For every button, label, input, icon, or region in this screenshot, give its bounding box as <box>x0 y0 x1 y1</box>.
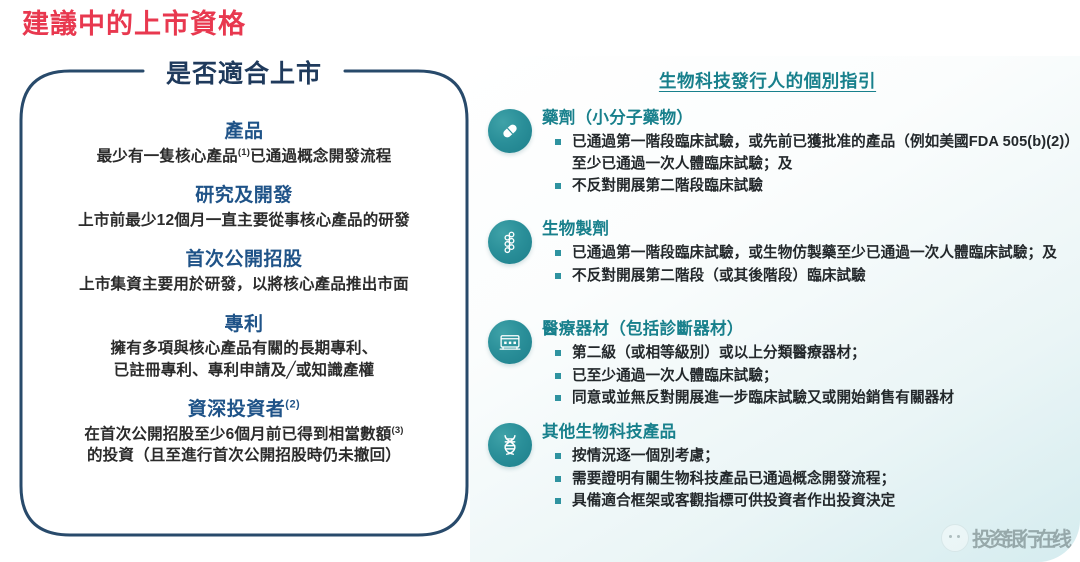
criteria-block-patent: 專利 擁有多項與核心產品有關的長期專利、 已註冊專利、專利申請及╱或知識產權 <box>28 313 460 382</box>
guidance-content: 其他生物科技產品 按情況逐一個別考慮； 需要證明有關生物科技產品已通過概念開發流… <box>542 422 1073 513</box>
pill-icon <box>488 109 532 153</box>
footnote-marker: (3) <box>391 425 403 436</box>
footnote-marker: (1) <box>238 147 250 158</box>
list-item: 不反對開展第二階段臨床試驗 <box>542 176 1073 197</box>
guidance-heading: 藥劑（小分子藥物） <box>542 108 1073 129</box>
list-item: 需要證明有關生物科技產品已通過概念開發流程； <box>542 469 1073 490</box>
biotech-guidance-panel: 生物科技發行人的個別指引 藥劑（小分子藥物） 已通過第一階段臨床試驗，或先前已獲… <box>470 56 1080 562</box>
criteria-text-line-1: 擁有多項與核心產品有關的長期專利、 <box>28 338 460 359</box>
criteria-block-rnd: 研究及開發 上市前最少12個月一直主要從事核心產品的研發 <box>28 184 460 231</box>
list-item: 已通過第一階段臨床試驗，或生物仿製藥至少已通過一次人體臨床試驗；及 <box>542 243 1073 264</box>
criteria-heading: 首次公開招股 <box>28 248 460 272</box>
guidance-group-other-biotech: 其他生物科技產品 按情況逐一個別考慮； 需要證明有關生物科技產品已通過概念開發流… <box>488 422 1073 513</box>
guidance-group-medical-device: 醫療器材（包括診斷器材） 第二級（或相等級別）或以上分類醫療器材； 已至少通過一… <box>488 319 1073 410</box>
guidance-content: 醫療器材（包括診斷器材） 第二級（或相等級別）或以上分類醫療器材； 已至少通過一… <box>542 319 1073 410</box>
list-item: 已通過第一階段臨床試驗，或先前已獲批准的產品（例如美國FDA 505(b)(2)… <box>542 132 1073 175</box>
criteria-block-ipo: 首次公開招股 上市集資主要用於研發，以將核心產品推出市面 <box>28 248 460 295</box>
criteria-heading: 資深投資者(2) <box>28 398 460 422</box>
criteria-block-investor: 資深投資者(2) 在首次公開招股至少6個月前已得到相當數額(3) 的投資（且至進… <box>28 398 460 467</box>
list-item: 按情況逐一個別考慮； <box>542 446 1073 467</box>
guidance-bullet-list: 按情況逐一個別考慮； 需要證明有關生物科技產品已通過概念開發流程； 具備適合框架… <box>542 446 1073 512</box>
dna-icon <box>488 423 532 467</box>
criteria-text-line-1: 在首次公開招股至少6個月前已得到相當數額(3) <box>28 424 460 446</box>
panel-title: 生物科技發行人的個別指引 <box>470 68 1065 93</box>
guidance-content: 生物製劑 已通過第一階段臨床試驗，或生物仿製藥至少已通過一次人體臨床試驗；及 不… <box>542 219 1073 288</box>
guidance-heading: 生物製劑 <box>542 219 1073 240</box>
criteria-text: 上市前最少12個月一直主要從事核心產品的研發 <box>28 210 460 231</box>
guidance-bullet-list: 已通過第一階段臨床試驗，或先前已獲批准的產品（例如美國FDA 505(b)(2)… <box>542 132 1073 197</box>
watermark-text: 投资银行在线 <box>972 523 1068 552</box>
footnote-marker: (2) <box>285 399 300 411</box>
criteria-heading: 專利 <box>28 313 460 337</box>
watermark: 投资银行在线 <box>941 523 1068 552</box>
wechat-logo-icon <box>941 524 969 552</box>
criteria-text: 上市集資主要用於研發，以將核心產品推出市面 <box>28 274 460 295</box>
molecule-chain-icon <box>488 220 532 264</box>
list-item: 已至少通過一次人體臨床試驗； <box>542 366 1073 387</box>
list-item: 不反對開展第二階段（或其後階段）臨床試驗 <box>542 266 1073 287</box>
guidance-bullet-list: 已通過第一階段臨床試驗，或生物仿製藥至少已通過一次人體臨床試驗；及 不反對開展第… <box>542 243 1073 287</box>
criteria-heading: 研究及開發 <box>28 184 460 208</box>
guidance-heading: 醫療器材（包括診斷器材） <box>542 319 1073 340</box>
listing-eligibility-card: 是否適合上市 產品 最少有一隻核心產品(1)已通過概念開發流程 研究及開發 上市… <box>18 68 470 538</box>
criteria-text-line-2: 的投資（且至進行首次公開招股時仍未撤回） <box>28 445 460 466</box>
guidance-content: 藥劑（小分子藥物） 已通過第一階段臨床試驗，或先前已獲批准的產品（例如美國FDA… <box>542 108 1073 198</box>
criteria-block-product: 產品 最少有一隻核心產品(1)已通過概念開發流程 <box>28 120 460 167</box>
card-title: 是否適合上市 <box>18 54 470 90</box>
guidance-bullet-list: 第二級（或相等級別）或以上分類醫療器材； 已至少通過一次人體臨床試驗； 同意或並… <box>542 343 1073 409</box>
criteria-text: 最少有一隻核心產品(1)已通過概念開發流程 <box>28 146 460 168</box>
list-item: 第二級（或相等級別）或以上分類醫療器材； <box>542 343 1073 364</box>
guidance-group-biologics: 生物製劑 已通過第一階段臨床試驗，或生物仿製藥至少已通過一次人體臨床試驗；及 不… <box>488 219 1073 288</box>
guidance-heading: 其他生物科技產品 <box>542 422 1073 443</box>
list-item: 同意或並無反對開展進一步臨床試驗又或開始銷售有關器材 <box>542 388 1073 409</box>
slide-root: 建議中的上市資格 是否適合上市 產品 最少有一隻核心產品(1)已通過概念開發流程… <box>0 0 1080 562</box>
criteria-heading: 產品 <box>28 120 460 144</box>
page-title: 建議中的上市資格 <box>22 2 246 41</box>
criteria-text-line-2: 已註冊專利、專利申請及╱或知識產權 <box>28 360 460 381</box>
guidance-group-pharmaceutical: 藥劑（小分子藥物） 已通過第一階段臨床試驗，或先前已獲批准的產品（例如美國FDA… <box>488 108 1073 198</box>
card-body: 產品 最少有一隻核心產品(1)已通過概念開發流程 研究及開發 上市前最少12個月… <box>28 120 460 467</box>
list-item: 具備適合框架或客觀指標可供投資者作出投資決定 <box>542 491 1073 512</box>
medical-device-icon <box>488 320 532 364</box>
